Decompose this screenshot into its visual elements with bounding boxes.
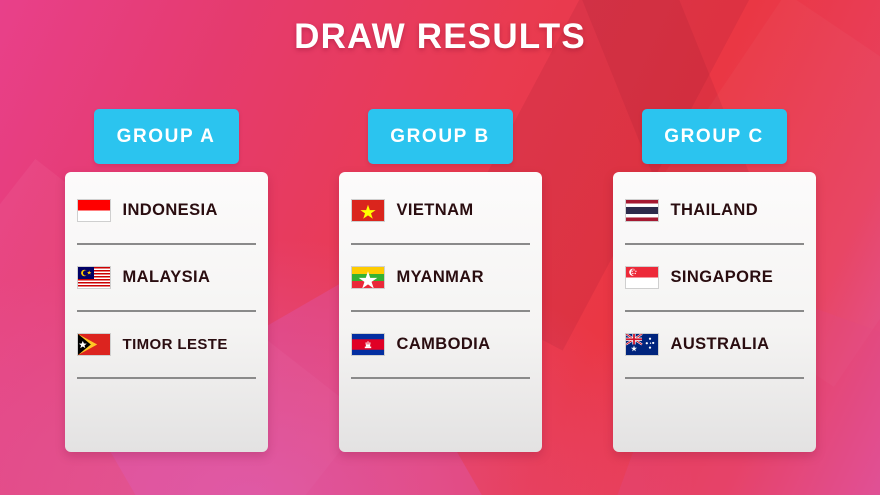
flag-thailand-icon [625, 199, 659, 222]
team-row[interactable]: INDONESIA [77, 178, 256, 245]
group-card-c: THAILAND [613, 172, 816, 452]
team-row[interactable]: CAMBODIA [351, 312, 530, 379]
group-column-b: GROUP B VIETNAM [339, 109, 542, 469]
team-row[interactable]: TIMOR LESTE [77, 312, 256, 379]
team-name: MALAYSIA [123, 268, 211, 287]
team-name: VIETNAM [397, 201, 474, 220]
team-row[interactable]: AUSTRALIA [625, 312, 804, 379]
flag-australia-icon [625, 333, 659, 356]
team-row-empty [351, 379, 530, 446]
team-row[interactable]: THAILAND [625, 178, 804, 245]
flag-timor-leste-icon [77, 333, 111, 356]
team-name: MYANMAR [397, 268, 484, 287]
flag-indonesia-icon [77, 199, 111, 222]
flag-myanmar-icon [351, 266, 385, 289]
group-card-b: VIETNAM MYANMAR [339, 172, 542, 452]
team-name: CAMBODIA [397, 335, 491, 354]
team-name: THAILAND [671, 201, 759, 220]
page-title: DRAW RESULTS [0, 17, 880, 57]
flag-malaysia-icon [77, 266, 111, 289]
group-column-a: GROUP A INDONESIA [65, 109, 268, 469]
flag-cambodia-icon [351, 333, 385, 356]
team-row[interactable]: SINGAPORE [625, 245, 804, 312]
team-row-empty [77, 379, 256, 446]
group-header-a[interactable]: GROUP A [94, 109, 239, 164]
flag-vietnam-icon [351, 199, 385, 222]
team-name: AUSTRALIA [671, 335, 770, 354]
group-card-a: INDONESIA [65, 172, 268, 452]
team-name: SINGAPORE [671, 268, 774, 287]
group-header-c[interactable]: GROUP C [642, 109, 787, 164]
group-header-b[interactable]: GROUP B [368, 109, 513, 164]
team-name: INDONESIA [123, 201, 218, 220]
draw-results-graphic: DRAW RESULTS GROUP A INDONESIA [0, 0, 880, 495]
team-row[interactable]: VIETNAM [351, 178, 530, 245]
flag-singapore-icon [625, 266, 659, 289]
team-row[interactable]: MYANMAR [351, 245, 530, 312]
team-row-empty [625, 379, 804, 446]
team-row[interactable]: MALAYSIA [77, 245, 256, 312]
team-name: TIMOR LESTE [123, 336, 228, 353]
group-column-c: GROUP C THAILAND [613, 109, 816, 469]
groups-container: GROUP A INDONESIA [0, 109, 880, 469]
